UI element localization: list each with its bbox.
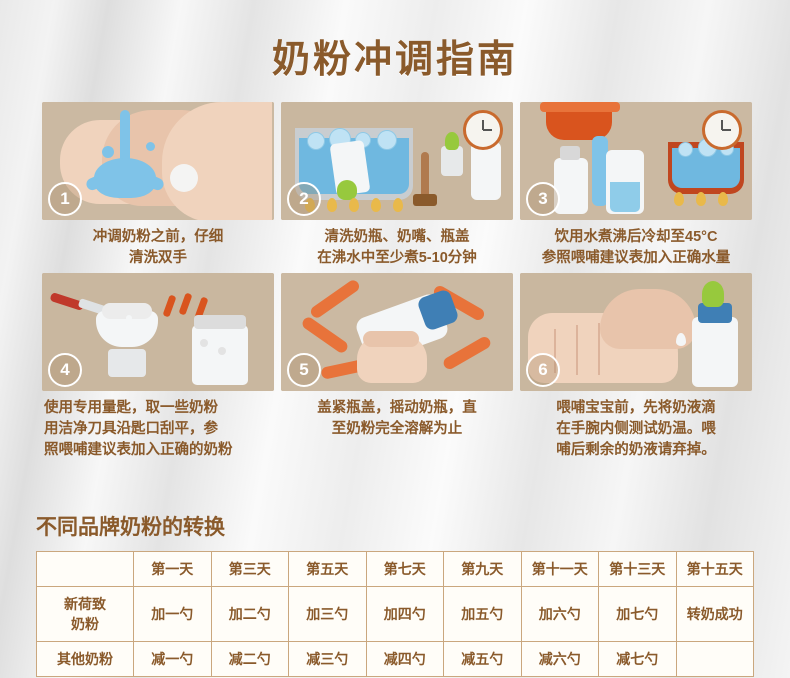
- row-0-cell-7: 转奶成功: [676, 587, 754, 642]
- table-col-5: 第九天: [444, 552, 522, 587]
- table-col-8: 第十五天: [676, 552, 754, 587]
- table-col-0: [37, 552, 134, 587]
- row-1-cell-4: 减五勺: [444, 642, 522, 677]
- row-0-label: 新荷致 奶粉: [37, 587, 134, 642]
- table-col-3: 第五天: [289, 552, 367, 587]
- step-5: 5 盖紧瓶盖，摇动奶瓶，直 至奶粉完全溶解为止: [281, 273, 513, 461]
- row-1-cell-3: 减四勺: [366, 642, 444, 677]
- row-1-cell-5: 减六勺: [521, 642, 599, 677]
- row-1-cell-7: [676, 642, 754, 677]
- step-2-number: 2: [287, 182, 321, 216]
- steps-grid: 1 冲调奶粉之前，仔细 清洗双手: [42, 102, 752, 461]
- row-0-cell-1: 加二勺: [211, 587, 289, 642]
- page-title: 奶粉冲调指南: [0, 0, 790, 83]
- step-5-number: 5: [287, 353, 321, 387]
- table-col-7: 第十三天: [599, 552, 677, 587]
- guide-page: 奶粉冲调指南 1 冲调奶粉之前，仔细 清洗双手: [0, 0, 790, 678]
- step-2: 2 清洗奶瓶、奶嘴、瓶盖 在沸水中至少煮5-10分钟: [281, 102, 513, 269]
- table-row: 其他奶粉 减一勺 减二勺 减三勺 减四勺 减五勺 减六勺 减七勺: [37, 642, 754, 677]
- step-6-illustration: 6: [520, 273, 752, 391]
- step-3-number: 3: [526, 182, 560, 216]
- table-col-6: 第十一天: [521, 552, 599, 587]
- row-1-cell-1: 减二勺: [211, 642, 289, 677]
- step-2-illustration: 2: [281, 102, 513, 220]
- row-0-cell-3: 加四勺: [366, 587, 444, 642]
- step-1-illustration: 1: [42, 102, 274, 220]
- row-0-cell-4: 加五勺: [444, 587, 522, 642]
- step-5-caption: 盖紧瓶盖，摇动奶瓶，直 至奶粉完全溶解为止: [281, 398, 513, 440]
- row-1-cell-6: 减七勺: [599, 642, 677, 677]
- step-6-caption: 喂哺宝宝前，先将奶液滴 在手腕内侧测试奶温。喂 哺后剩余的奶液请弃掉。: [520, 398, 752, 461]
- row-0-cell-5: 加六勺: [521, 587, 599, 642]
- row-0-cell-6: 加七勺: [599, 587, 677, 642]
- table-header-row: 第一天 第三天 第五天 第七天 第九天 第十一天 第十三天 第十五天: [37, 552, 754, 587]
- step-6-number: 6: [526, 353, 560, 387]
- step-3-caption: 饮用水煮沸后冷却至45°C 参照喂哺建议表加入正确水量: [520, 227, 752, 269]
- step-6: 6 喂哺宝宝前，先将奶液滴 在手腕内侧测试奶温。喂 哺后剩余的奶液请弃掉。: [520, 273, 752, 461]
- step-4-number: 4: [48, 353, 82, 387]
- step-1: 1 冲调奶粉之前，仔细 清洗双手: [42, 102, 274, 269]
- step-4-caption: 使用专用量匙，取一些奶粉 用洁净刀具沿匙口刮平，参 照喂哺建议表加入正确的奶粉: [42, 398, 274, 461]
- conversion-table: 第一天 第三天 第五天 第七天 第九天 第十一天 第十三天 第十五天 新荷致 奶…: [36, 551, 754, 677]
- row-1-cell-2: 减三勺: [289, 642, 367, 677]
- row-0-cell-2: 加三勺: [289, 587, 367, 642]
- step-4: 4 使用专用量匙，取一些奶粉 用洁净刀具沿匙口刮平，参 照喂哺建议表加入正确的奶…: [42, 273, 274, 461]
- step-4-illustration: 4: [42, 273, 274, 391]
- row-1-cell-0: 减一勺: [134, 642, 212, 677]
- row-1-label: 其他奶粉: [37, 642, 134, 677]
- table-col-2: 第三天: [211, 552, 289, 587]
- step-5-illustration: 5: [281, 273, 513, 391]
- conversion-section-title: 不同品牌奶粉的转换: [36, 511, 225, 541]
- table-col-4: 第七天: [366, 552, 444, 587]
- step-3-illustration: 3: [520, 102, 752, 220]
- row-0-cell-0: 加一勺: [134, 587, 212, 642]
- table-row: 新荷致 奶粉 加一勺 加二勺 加三勺 加四勺 加五勺 加六勺 加七勺 转奶成功: [37, 587, 754, 642]
- timer-icon: [463, 110, 503, 150]
- step-2-caption: 清洗奶瓶、奶嘴、瓶盖 在沸水中至少煮5-10分钟: [281, 227, 513, 269]
- step-1-number: 1: [48, 182, 82, 216]
- step-1-caption: 冲调奶粉之前，仔细 清洗双手: [42, 227, 274, 269]
- step-3: 3 饮用水煮沸后冷却至45°C 参照喂哺建议表加入正确水量: [520, 102, 752, 269]
- timer-icon-2: [702, 110, 742, 150]
- table-col-1: 第一天: [134, 552, 212, 587]
